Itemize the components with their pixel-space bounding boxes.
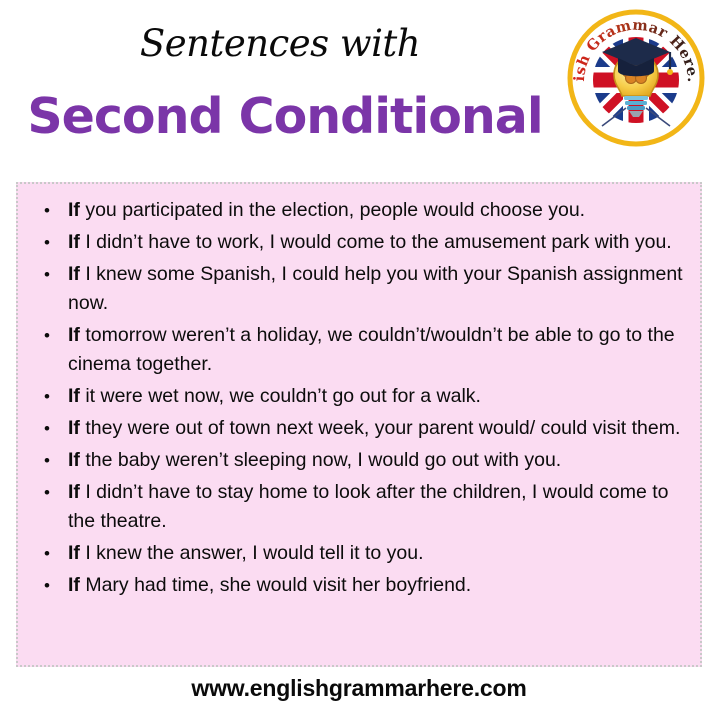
sentence-text: I knew some Spanish, I could help you wi… bbox=[68, 263, 683, 314]
page-title: Second Conditional bbox=[0, 88, 570, 145]
sentence-text: I didn’t have to work, I would come to t… bbox=[80, 231, 672, 253]
list-item: If you participated in the election, peo… bbox=[32, 196, 686, 225]
sentence-keyword: If bbox=[68, 231, 80, 253]
list-item: If Mary had time, she would visit her bo… bbox=[32, 571, 686, 600]
list-item: If I knew the answer, I would tell it to… bbox=[32, 539, 686, 568]
sentence-text: you participated in the election, people… bbox=[80, 199, 585, 221]
list-item: If I didn’t have to stay home to look af… bbox=[32, 478, 686, 536]
list-item: If I didn’t have to work, I would come t… bbox=[32, 228, 686, 257]
sentence-keyword: If bbox=[68, 542, 80, 564]
sentence-keyword: If bbox=[68, 199, 80, 221]
list-item: If they were out of town next week, your… bbox=[32, 414, 686, 443]
sentence-text: Mary had time, she would visit her boyfr… bbox=[80, 574, 471, 596]
sentence-list: If you participated in the election, peo… bbox=[18, 184, 700, 600]
list-item: If the baby weren’t sleeping now, I woul… bbox=[32, 446, 686, 475]
poster-header: Sentences with Second Conditional bbox=[0, 0, 718, 175]
sentence-text: the baby weren’t sleeping now, I would g… bbox=[80, 449, 561, 471]
footer-website: www.englishgrammarhere.com bbox=[0, 675, 718, 702]
english-grammar-here-logo: English Grammar Here.Com bbox=[566, 8, 706, 148]
sentence-text: I knew the answer, I would tell it to yo… bbox=[80, 542, 424, 564]
sentence-keyword: If bbox=[68, 385, 80, 407]
sentence-keyword: If bbox=[68, 417, 80, 439]
page-subtitle: Sentences with bbox=[0, 22, 560, 65]
list-item: If tomorrow weren’t a holiday, we couldn… bbox=[32, 321, 686, 379]
sentence-text: I didn’t have to stay home to look after… bbox=[68, 481, 669, 532]
sentences-panel: If you participated in the election, peo… bbox=[16, 182, 702, 667]
sentence-keyword: If bbox=[68, 574, 80, 596]
sentence-keyword: If bbox=[68, 481, 80, 503]
list-item: If I knew some Spanish, I could help you… bbox=[32, 260, 686, 318]
sentence-text: they were out of town next week, your pa… bbox=[80, 417, 680, 439]
sentence-keyword: If bbox=[68, 324, 80, 346]
sentence-text: it were wet now, we couldn’t go out for … bbox=[80, 385, 481, 407]
sentence-keyword: If bbox=[68, 263, 80, 285]
list-item: If it were wet now, we couldn’t go out f… bbox=[32, 382, 686, 411]
sentence-text: tomorrow weren’t a holiday, we couldn’t/… bbox=[68, 324, 675, 375]
sentence-keyword: If bbox=[68, 449, 80, 471]
poster-page: Sentences with Second Conditional bbox=[0, 0, 718, 718]
